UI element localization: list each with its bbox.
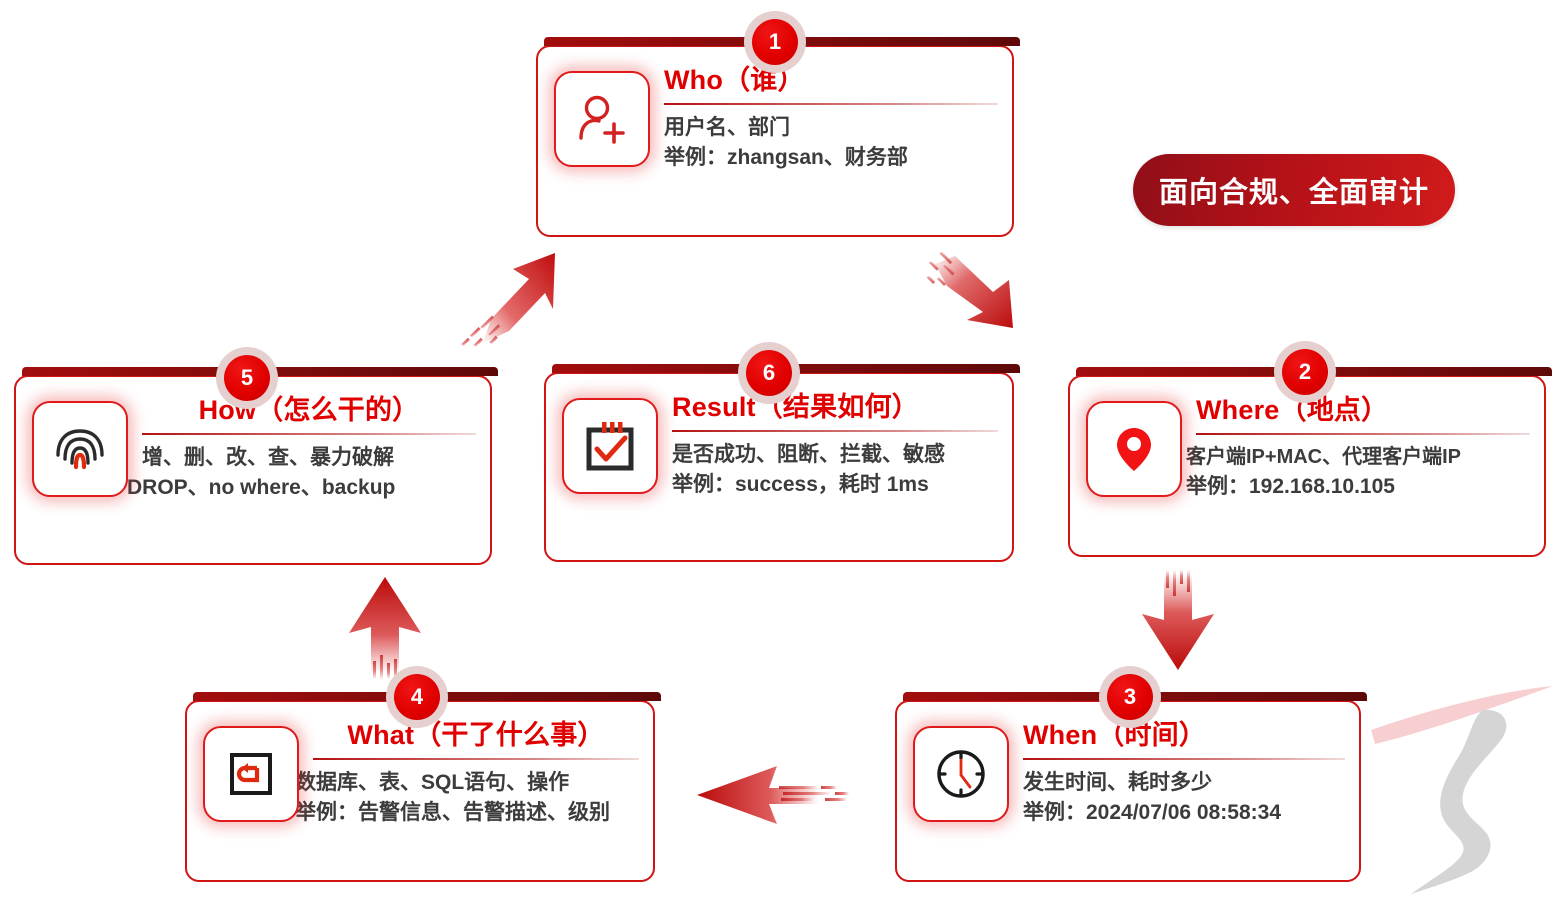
title-divider [1196, 433, 1530, 435]
card-what-title: What（干了什么事） [313, 720, 639, 751]
card-how-line1: 增、删、改、查、暴力破解 [142, 443, 476, 473]
arrow-when-to-what [695, 760, 855, 830]
clock-icon [913, 726, 1009, 822]
card-who-line2: 举例：zhangsan、财务部 [664, 143, 998, 173]
card-result-line1: 是否成功、阻断、拦截、敏感 [672, 440, 998, 470]
card-result-title: Result（结果如何） [672, 392, 998, 423]
card-how-text: How（怎么干的） 增、删、改、查、暴力破解 举例：DROP、no where、… [142, 395, 476, 504]
card-when-line1: 发生时间、耗时多少 [1023, 768, 1345, 798]
card-when-line2: 举例：2024/07/06 08:58:34 [1023, 798, 1345, 828]
badge-3: 3 [1099, 666, 1161, 728]
card-where-line2: 举例：192.168.10.105 [1186, 472, 1530, 502]
card-who-text: Who（谁） 用户名、部门 举例：zhangsan、财务部 [664, 65, 998, 174]
title-divider [672, 430, 998, 432]
card-what-line1: 数据库、表、SQL语句、操作 [295, 768, 639, 798]
arrow-who-to-where [925, 250, 1025, 340]
card-when-text: When（时间） 发生时间、耗时多少 举例：2024/07/06 08:58:3… [1023, 720, 1345, 829]
card-result-text: Result（结果如何） 是否成功、阻断、拦截、敏感 举例：success，耗时… [672, 392, 998, 501]
headline-banner: 面向合规、全面审计 [1133, 154, 1455, 226]
badge-5: 5 [216, 347, 278, 409]
user-add-icon [554, 71, 650, 167]
badge-4-number: 4 [394, 674, 440, 720]
fingerprint-icon [32, 401, 128, 497]
badge-5-number: 5 [224, 355, 270, 401]
card-where-line1: 客户端IP+MAC、代理客户端IP [1186, 443, 1530, 472]
badge-3-number: 3 [1107, 674, 1153, 720]
arrow-how-to-who [455, 245, 565, 355]
badge-4: 4 [386, 666, 448, 728]
title-divider [664, 103, 998, 105]
title-divider [313, 758, 639, 760]
badge-1-number: 1 [752, 19, 798, 65]
card-result-line2: 举例：success，耗时 1ms [672, 470, 998, 500]
card-where-title: Where（地点） [1196, 395, 1530, 426]
title-divider [1023, 758, 1345, 760]
card-what-text: What（干了什么事） 数据库、表、SQL语句、操作 举例：告警信息、告警描述、… [313, 720, 639, 829]
card-who-line1: 用户名、部门 [664, 113, 998, 143]
infographic-canvas: 面向合规、全面审计 Who（谁） 用户名、部门 举例：zhangsan、财务部 … [0, 0, 1563, 897]
badge-1: 1 [744, 11, 806, 73]
card-who[interactable]: Who（谁） 用户名、部门 举例：zhangsan、财务部 [536, 45, 1014, 237]
undo-square-icon [203, 726, 299, 822]
location-pin-icon [1086, 401, 1182, 497]
badge-2: 2 [1274, 341, 1336, 403]
headline-banner-text: 面向合规、全面审计 [1159, 169, 1429, 211]
badge-6-number: 6 [746, 350, 792, 396]
clipboard-check-icon [562, 398, 658, 494]
badge-6: 6 [738, 342, 800, 404]
card-how-title: How（怎么干的） [142, 395, 476, 426]
arrow-where-to-when [1128, 570, 1228, 675]
brand-watermark [1363, 682, 1563, 897]
arrow-what-to-how [335, 575, 435, 680]
badge-2-number: 2 [1282, 349, 1328, 395]
title-divider [142, 433, 476, 435]
card-what-line2: 举例：告警信息、告警描述、级别 [295, 798, 639, 828]
card-where-text: Where（地点） 客户端IP+MAC、代理客户端IP 举例：192.168.1… [1196, 395, 1530, 502]
card-when-title: When（时间） [1023, 720, 1345, 751]
card-who-title: Who（谁） [664, 65, 998, 96]
